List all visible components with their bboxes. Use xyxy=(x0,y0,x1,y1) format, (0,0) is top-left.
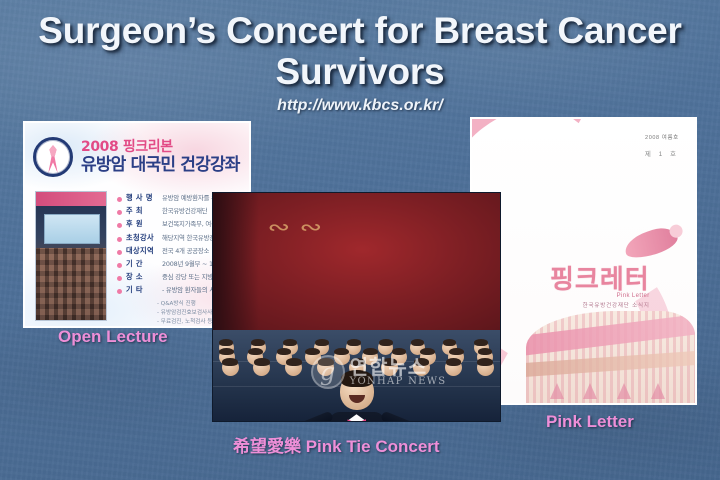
yonhap-logo-icon xyxy=(311,355,345,389)
poster-heading-line1: 2008 핑크리본 xyxy=(81,140,240,155)
bullet-dot-icon xyxy=(117,276,122,281)
caption-pink-letter: Pink Letter xyxy=(546,412,634,432)
bullet-dot-icon xyxy=(117,250,122,255)
choir-member xyxy=(222,359,239,377)
pink-tie-concert-photo[interactable]: ∾ ∾ 연합뉴스 YONH xyxy=(212,192,501,422)
booklet-title-subtitle: 한국유방건강재단 소식지 xyxy=(550,301,650,309)
booklet-illustration xyxy=(526,311,695,403)
bullet-dot-icon xyxy=(117,289,122,294)
pink-ribbon-logo-icon xyxy=(33,137,73,177)
poster-detail-value: 전국 4개 공공장소 xyxy=(162,246,209,255)
subtitle-url: http://www.kbcs.or.kr/ xyxy=(0,97,720,115)
caption-pink-tie-concert-en: Pink Tie Concert xyxy=(301,437,440,456)
choir-member xyxy=(477,359,494,377)
page-title: Surgeon’s Concert for Breast Cancer Surv… xyxy=(0,10,720,93)
title-block: Surgeon’s Concert for Breast Cancer Surv… xyxy=(0,10,720,115)
booklet-title-block: 핑크레터 Pink Letter 한국유방건강재단 소식지 xyxy=(550,259,650,309)
booklet-frame: 2008 여름호 제 1 호 핑크레터 Pink Letter 한국유방건강재단… xyxy=(470,117,697,405)
choir-member xyxy=(253,359,270,377)
pink-letter-poster-image[interactable]: 2008 여름호 제 1 호 핑크레터 Pink Letter 한국유방건강재단… xyxy=(470,117,697,405)
caption-open-lecture: Open Lecture xyxy=(58,327,168,347)
poster-detail-label: 주 최 xyxy=(126,206,162,216)
poster-detail-value: 한국유방건강재단 xyxy=(162,206,207,215)
bullet-dot-icon xyxy=(117,223,122,228)
lecture-hall-photo xyxy=(35,191,107,321)
presentation-slide: Surgeon’s Concert for Breast Cancer Surv… xyxy=(0,0,720,480)
choir-member xyxy=(445,359,462,377)
booklet-title-ko: 핑크레터 xyxy=(550,259,650,296)
poster-detail-label: 후 원 xyxy=(126,219,162,229)
bullet-dot-icon xyxy=(117,263,122,268)
poster-detail-label: 장 소 xyxy=(126,272,162,282)
watermark-text-en: YONHAP NEWS xyxy=(350,377,447,387)
poster-detail-label: 행 사 명 xyxy=(126,193,162,203)
booklet-issue-date: 2008 여름호 xyxy=(645,133,679,141)
watermark-text-ko: 연합뉴스 xyxy=(350,357,447,378)
yonhap-news-watermark: 연합뉴스 YONHAP NEWS xyxy=(311,355,447,389)
caption-pink-tie-concert-cjk: 希望愛樂 xyxy=(233,437,301,457)
booklet-issue-number: 제 1 호 xyxy=(645,148,679,158)
booklet-issue-info: 2008 여름호 제 1 호 xyxy=(645,133,679,158)
concert-photo-frame: ∾ ∾ 연합뉴스 YONH xyxy=(212,192,501,422)
bullet-dot-icon xyxy=(117,237,122,242)
poster-detail-label: 초청강사 xyxy=(126,233,162,243)
poster-heading-line2: 유방암 대국민 건강강좌 xyxy=(81,156,240,174)
decorative-glyph-icon-2: ∾ xyxy=(299,215,322,239)
poster-detail-label: 기 간 xyxy=(126,259,162,269)
choir-member xyxy=(285,359,302,377)
poster-detail-label: 기 타 xyxy=(126,285,162,295)
poster-header: 2008 핑크리본 유방암 대국민 건강강좌 xyxy=(33,133,243,181)
bullet-dot-icon xyxy=(117,210,122,215)
decorative-glyph-icon: ∾ xyxy=(268,215,291,239)
bullet-dot-icon xyxy=(117,197,122,202)
poster-detail-label: 대상지역 xyxy=(126,246,162,256)
caption-pink-tie-concert: 希望愛樂 Pink Tie Concert xyxy=(233,432,440,457)
